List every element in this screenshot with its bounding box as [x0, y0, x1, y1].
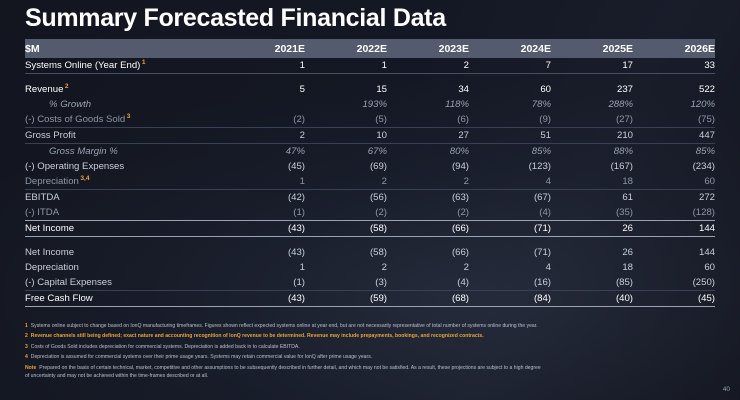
- table-cell-value: (84): [469, 291, 551, 307]
- table-row-spacer: [25, 74, 715, 83]
- row-label: (-) Costs of Goods Sold3: [25, 112, 223, 128]
- table-cell-value: (35): [551, 205, 633, 221]
- table-cell-value: (45): [223, 159, 305, 174]
- table-row: Net Income(43)(58)(66)(71)26144: [25, 221, 715, 237]
- table-cell-value: (3): [305, 275, 387, 291]
- table-cell-value: 26: [551, 221, 633, 237]
- table-cell-value: 1: [305, 58, 387, 74]
- table-cell-value: (43): [223, 221, 305, 237]
- table-cell-value: (1): [223, 275, 305, 291]
- table-cell-value: (16): [469, 275, 551, 291]
- table-cell-value: 447: [633, 128, 715, 144]
- column-header-2022e: 2022E: [305, 39, 387, 58]
- table-row: (-) Capital Expenses(1)(3)(4)(16)(85)(25…: [25, 275, 715, 291]
- footnote-item: Note Prepared on the basis of certain te…: [25, 364, 545, 381]
- footnote-marker: 2: [25, 333, 28, 339]
- table-row: Gross Profit2102751210447: [25, 128, 715, 144]
- footnote-marker: 4: [25, 354, 28, 360]
- table-cell-value: [223, 97, 305, 112]
- table-row: Net Income(43)(58)(66)(71)26144: [25, 245, 715, 260]
- table-row: (-) ITDA(1)(2)(2)(4)(35)(128): [25, 205, 715, 221]
- table-row-spacer: [25, 237, 715, 246]
- row-label: % Growth: [25, 97, 223, 112]
- column-header-2025e: 2025E: [551, 39, 633, 58]
- table-cell-value: (71): [469, 245, 551, 260]
- table-cell-value: 18: [551, 260, 633, 275]
- table-cell-value: 2: [387, 174, 469, 190]
- table-cell-value: (94): [387, 159, 469, 174]
- table-cell-value: (250): [633, 275, 715, 291]
- table-cell-value: (68): [387, 291, 469, 307]
- footnote-marker: 2: [65, 83, 69, 90]
- table-cell-value: 2: [305, 174, 387, 190]
- column-header-2024e: 2024E: [469, 39, 551, 58]
- table-cell-value: 67%: [305, 144, 387, 160]
- table-cell-value: 47%: [223, 144, 305, 160]
- table-cell-value: 118%: [387, 97, 469, 112]
- table-cell-value: 85%: [633, 144, 715, 160]
- table-cell-value: (5): [305, 112, 387, 128]
- table-cell-value: 210: [551, 128, 633, 144]
- footnote-item: 4 Depreciation is assumed for commercial…: [25, 353, 545, 361]
- footnote-marker: Note: [25, 365, 36, 371]
- table-cell-value: (6): [387, 112, 469, 128]
- table-cell-value: 61: [551, 190, 633, 206]
- table-cell-value: 1: [223, 58, 305, 74]
- row-label: Gross Margin %: [25, 144, 223, 160]
- table-cell-value: 33: [633, 58, 715, 74]
- footnote-text: Revenue channels still being defined; ex…: [29, 333, 483, 339]
- table-cell-value: 7: [469, 58, 551, 74]
- footnote-item: 2 Revenue channels still being defined; …: [25, 332, 545, 340]
- table-header-row: $M 2021E 2022E 2023E 2024E 2025E 2026E: [25, 39, 715, 58]
- footnote-marker: 3: [127, 113, 131, 120]
- footnote-marker: 1: [142, 59, 146, 66]
- table-cell-value: 120%: [633, 97, 715, 112]
- table-row: Depreciation3,412241860: [25, 174, 715, 190]
- table-cell-value: (43): [223, 291, 305, 307]
- row-label: Gross Profit: [25, 128, 223, 144]
- table-cell-value: (128): [633, 205, 715, 221]
- table-cell-value: (42): [223, 190, 305, 206]
- footnote-text: Systems online subject to change based o…: [29, 323, 537, 329]
- column-header-unit: $M: [25, 39, 223, 58]
- row-label: (-) Operating Expenses: [25, 159, 223, 174]
- table-header: $M 2021E 2022E 2023E 2024E 2025E 2026E: [25, 39, 715, 58]
- table-cell-value: (66): [387, 245, 469, 260]
- table-row: Revenue25153460237522: [25, 82, 715, 97]
- table-cell-value: 2: [223, 128, 305, 144]
- table-cell-value: 144: [633, 221, 715, 237]
- table-row: EBITDA(42)(56)(63)(67)61272: [25, 190, 715, 206]
- table-cell-value: (58): [305, 245, 387, 260]
- table-row: % Growth193%118%78%288%120%: [25, 97, 715, 112]
- table-cell-value: (1): [223, 205, 305, 221]
- table-body: Systems Online (Year End)111271733Revenu…: [25, 58, 715, 307]
- table-cell-value: (234): [633, 159, 715, 174]
- table-cell-value: (66): [387, 221, 469, 237]
- table-cell-value: 2: [305, 260, 387, 275]
- table-cell-value: (167): [551, 159, 633, 174]
- row-label: Depreciation3,4: [25, 174, 223, 190]
- table-cell-value: 2: [387, 260, 469, 275]
- footnote-item: 3 Costs of Goods Sold includes depreciat…: [25, 343, 545, 351]
- table-cell-value: (4): [387, 275, 469, 291]
- row-label: Net Income: [25, 245, 223, 260]
- footnote-text: Prepared on the basis of certain technic…: [25, 365, 541, 379]
- table-cell-value: 1: [223, 260, 305, 275]
- footnotes-block: 1 Systems online subject to change based…: [25, 322, 545, 382]
- table-cell-value: (69): [305, 159, 387, 174]
- footnote-marker: 3,4: [80, 175, 89, 182]
- table-cell-value: 272: [633, 190, 715, 206]
- table-cell-value: (63): [387, 190, 469, 206]
- table-row: Systems Online (Year End)111271733: [25, 58, 715, 74]
- table-cell-value: (59): [305, 291, 387, 307]
- table-cell-value: (45): [633, 291, 715, 307]
- row-label: (-) Capital Expenses: [25, 275, 223, 291]
- table-cell-value: 237: [551, 82, 633, 97]
- table-cell-value: (2): [223, 112, 305, 128]
- table-cell-value: 4: [469, 260, 551, 275]
- slide-root: Summary Forecasted Financial Data $M 202…: [0, 0, 740, 400]
- table-cell-value: (75): [633, 112, 715, 128]
- financial-table: $M 2021E 2022E 2023E 2024E 2025E 2026E S…: [25, 39, 715, 307]
- table-row: Gross Margin %47%67%80%85%88%85%: [25, 144, 715, 160]
- table-cell-value: 2: [387, 58, 469, 74]
- table-cell-value: 60: [633, 260, 715, 275]
- row-label: Net Income: [25, 221, 223, 237]
- table-cell-value: 60: [633, 174, 715, 190]
- table-cell-value: 10: [305, 128, 387, 144]
- row-label: Systems Online (Year End)1: [25, 58, 223, 74]
- table-cell-value: (56): [305, 190, 387, 206]
- table-cell-value: (40): [551, 291, 633, 307]
- table-cell-value: (58): [305, 221, 387, 237]
- footnote-text: Depreciation is assumed for commercial s…: [29, 354, 372, 360]
- table-row: Free Cash Flow(43)(59)(68)(84)(40)(45): [25, 291, 715, 307]
- table-cell-value: 85%: [469, 144, 551, 160]
- table-cell-value: 5: [223, 82, 305, 97]
- row-label: Depreciation: [25, 260, 223, 275]
- table-cell-value: 26: [551, 245, 633, 260]
- table-cell-value: 144: [633, 245, 715, 260]
- page-title: Summary Forecasted Financial Data: [25, 4, 446, 33]
- table-row: (-) Costs of Goods Sold3(2)(5)(6)(9)(27)…: [25, 112, 715, 128]
- table-cell-value: 88%: [551, 144, 633, 160]
- row-label: Revenue2: [25, 82, 223, 97]
- table-cell-value: 27: [387, 128, 469, 144]
- table-cell-value: (85): [551, 275, 633, 291]
- table-cell-value: 18: [551, 174, 633, 190]
- table-cell-value: 78%: [469, 97, 551, 112]
- table-cell-value: (71): [469, 221, 551, 237]
- table-cell-value: (4): [469, 205, 551, 221]
- row-label: EBITDA: [25, 190, 223, 206]
- financial-table-container: $M 2021E 2022E 2023E 2024E 2025E 2026E S…: [25, 39, 715, 307]
- table-cell-value: 34: [387, 82, 469, 97]
- footnote-item: 1 Systems online subject to change based…: [25, 322, 545, 330]
- table-row: Depreciation12241860: [25, 260, 715, 275]
- table-cell-value: (67): [469, 190, 551, 206]
- row-label: Free Cash Flow: [25, 291, 223, 307]
- table-cell-value: (9): [469, 112, 551, 128]
- table-cell-value: 80%: [387, 144, 469, 160]
- column-header-2023e: 2023E: [387, 39, 469, 58]
- table-cell-value: 288%: [551, 97, 633, 112]
- table-cell-value: 522: [633, 82, 715, 97]
- table-cell-value: 51: [469, 128, 551, 144]
- table-cell-value: (123): [469, 159, 551, 174]
- table-cell-value: (27): [551, 112, 633, 128]
- footnote-marker: 1: [25, 323, 28, 329]
- table-cell-value: 60: [469, 82, 551, 97]
- table-cell-value: (43): [223, 245, 305, 260]
- table-cell-value: 17: [551, 58, 633, 74]
- page-number: 40: [723, 386, 730, 393]
- table-cell-value: 1: [223, 174, 305, 190]
- table-row: (-) Operating Expenses(45)(69)(94)(123)(…: [25, 159, 715, 174]
- table-cell-value: 4: [469, 174, 551, 190]
- column-header-2021e: 2021E: [223, 39, 305, 58]
- table-cell-value: 193%: [305, 97, 387, 112]
- table-cell-value: (2): [387, 205, 469, 221]
- column-header-2026e: 2026E: [633, 39, 715, 58]
- row-label: (-) ITDA: [25, 205, 223, 221]
- footnote-text: Costs of Goods Sold includes depreciatio…: [29, 344, 299, 350]
- footnote-marker: 3: [25, 344, 28, 350]
- table-cell-value: (2): [305, 205, 387, 221]
- table-cell-value: 15: [305, 82, 387, 97]
